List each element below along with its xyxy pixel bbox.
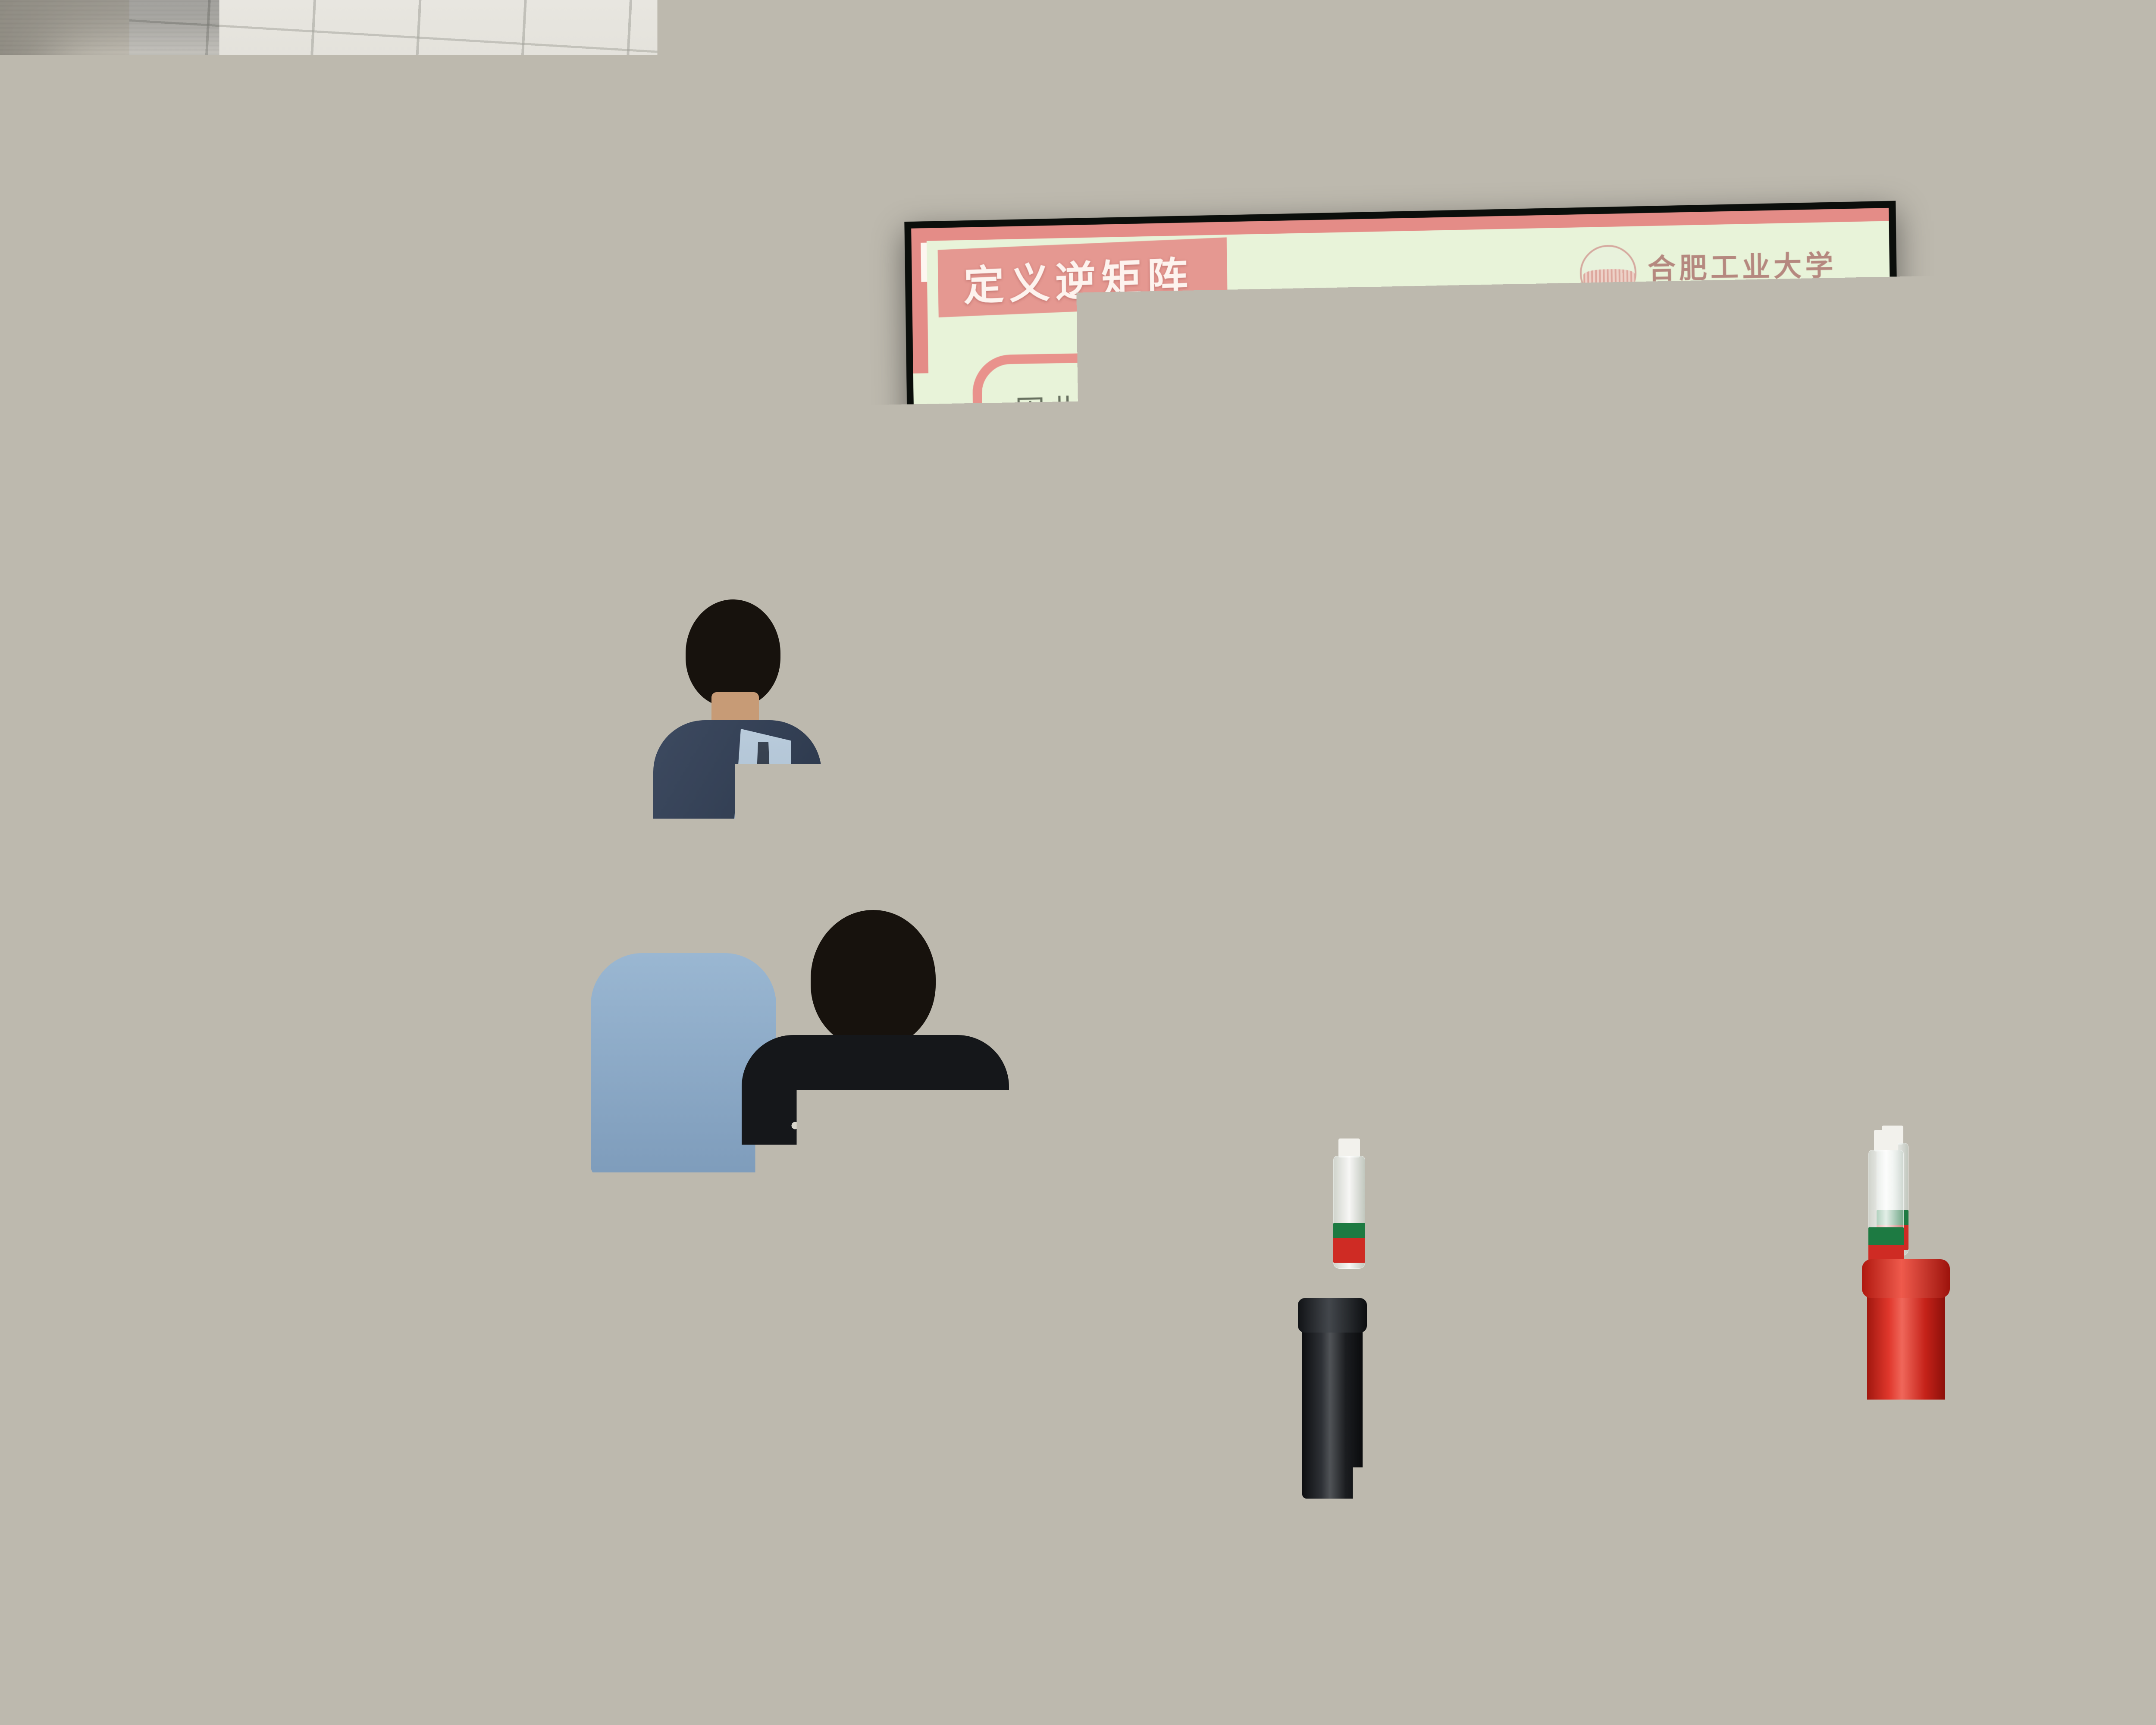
slide-sidebar: 教学 思想 一用最简单的语言，讲解最深奥的理论。	[1727, 417, 1862, 680]
floor-tile-line	[0, 1501, 302, 1503]
university-name-en: HEFEI UNIVERSITY OF TECHNOLOGY	[1648, 285, 1837, 298]
slide-body: 因此希望 BAX = EX = X = BC XAB = XE = X = CB…	[1015, 373, 1442, 681]
slide-line-2: 因此要求	[1017, 532, 1442, 581]
instructor-head	[686, 599, 780, 707]
water-bottle[interactable]	[1130, 895, 1156, 996]
slide: 定义逆矩阵 合肥工业大学 HEFEI UNIVERSITY OF TECHNOL…	[911, 208, 1898, 868]
slide-equation-1: BAX = EX = X = BC	[1084, 431, 1440, 480]
water-bottle[interactable]	[2115, 908, 2141, 1009]
student-head	[1733, 1074, 1863, 1216]
water-bottle[interactable]	[1595, 988, 1624, 1098]
student-head	[1432, 1095, 1587, 1276]
handbag-handle	[1164, 1294, 1220, 1345]
title-tick-mark	[921, 243, 927, 282]
trouser-leg	[164, 1203, 250, 1406]
projection-screen: 定义逆矩阵 合肥工业大学 HEFEI UNIVERSITY OF TECHNOL…	[904, 201, 1905, 875]
sprinkler-head	[405, 112, 415, 132]
bottle-label	[1092, 965, 1116, 993]
bottle-label	[1131, 962, 1155, 990]
slide-equation-2: XAB = XE = X = CB	[1084, 481, 1440, 530]
student-head	[811, 910, 936, 1048]
water-bottle[interactable]	[1018, 949, 1044, 1054]
bottle-cap	[1338, 1138, 1360, 1157]
student-head	[625, 862, 720, 966]
water-bottle[interactable]	[1332, 1138, 1366, 1268]
bottle-cap	[2063, 1458, 2098, 1489]
slide-title-chip: 定义逆矩阵	[938, 237, 1228, 317]
bottle-label	[1044, 1373, 1084, 1425]
black-thermos[interactable]	[1302, 1309, 1363, 1499]
student-head	[1703, 858, 1820, 983]
slide-title: 定义逆矩阵	[963, 243, 1193, 312]
smoke-detector	[1781, 78, 1808, 112]
student-head	[1302, 785, 1410, 906]
projector-lens	[2070, 41, 2122, 93]
university-name-cn: 合肥工业大学	[1647, 243, 1837, 286]
bottle-label	[2116, 975, 2140, 1005]
university-logo: 合肥工业大学 HEFEI UNIVERSITY OF TECHNOLOGY	[1579, 240, 1837, 302]
handbag-clasp-icon	[1240, 1399, 1265, 1443]
slide-line-1: 因此希望	[1015, 380, 1439, 431]
water-bottle[interactable]	[1867, 1130, 1905, 1281]
bottle-cap	[2120, 908, 2136, 922]
dell-logo-icon	[577, 838, 597, 859]
bottle-label	[1333, 1223, 1365, 1263]
bottle-cap	[1601, 988, 1619, 1004]
whiteboard-smudge	[699, 513, 776, 536]
chair-frame	[733, 1596, 1095, 1725]
student-head	[1199, 970, 1341, 1138]
student-head	[1514, 819, 1621, 940]
student-head	[1846, 923, 1945, 1031]
water-bottle[interactable]	[1044, 1264, 1085, 1432]
bottle-cap	[1096, 899, 1112, 914]
ceiling-light-panel	[1539, 48, 1683, 92]
water-bottle[interactable]	[2053, 1458, 2109, 1682]
floor	[0, 1203, 561, 1725]
bottle-cap	[1051, 1264, 1078, 1288]
bottle-cap	[1022, 949, 1040, 964]
black-thermos-lid	[1298, 1298, 1367, 1333]
black-thermos[interactable]	[293, 1050, 335, 1123]
bottle-cap	[1702, 979, 1720, 995]
slide-equation-3: AB = BA = E	[1086, 583, 1442, 630]
bottle-label	[2054, 1604, 2107, 1673]
red-thermos[interactable]	[1867, 1268, 1945, 1471]
handbag[interactable]	[776, 1264, 983, 1371]
student-head	[1457, 927, 1587, 1074]
bottle-cap	[1874, 1130, 1898, 1151]
student-head	[1108, 828, 1216, 944]
handbag-patterned[interactable]	[2005, 1190, 2156, 1320]
bottle-label	[1018, 1018, 1044, 1049]
water-bottle[interactable]	[1091, 899, 1117, 998]
water-bottle[interactable]	[1697, 979, 1724, 1087]
whiteboard-smudge	[811, 477, 914, 496]
classroom-photo: 定义逆矩阵 合肥工业大学 HEFEI UNIVERSITY OF TECHNOL…	[0, 0, 2156, 1725]
bottle-label	[1596, 1059, 1623, 1092]
handbag[interactable]	[1087, 1333, 1285, 1570]
sidebar-underline	[1732, 580, 1858, 588]
bottle-label	[1156, 1072, 1183, 1105]
bottle-cap	[1329, 1121, 1349, 1138]
student-head	[440, 888, 548, 1005]
student-torso	[1854, 1483, 2156, 1725]
slide-line-3: 从而记	[1018, 634, 1443, 682]
bottle-label	[1698, 1049, 1724, 1081]
sidebar-heading-bottom: 思想	[1728, 499, 1860, 575]
red-thermos-lid	[1862, 1259, 1950, 1298]
water-bottle[interactable]	[1156, 998, 1184, 1110]
sidebar-note: 一用最简单的语言，讲解最深奥的理论。	[1729, 597, 1862, 680]
bottle-cap	[1161, 998, 1179, 1015]
bottle-cap	[1134, 895, 1151, 910]
student-torso	[103, 901, 241, 1095]
university-seal-icon	[1579, 245, 1637, 302]
sidebar-heading-top: 教学	[1727, 417, 1859, 494]
projector-vent	[2147, 30, 2156, 78]
